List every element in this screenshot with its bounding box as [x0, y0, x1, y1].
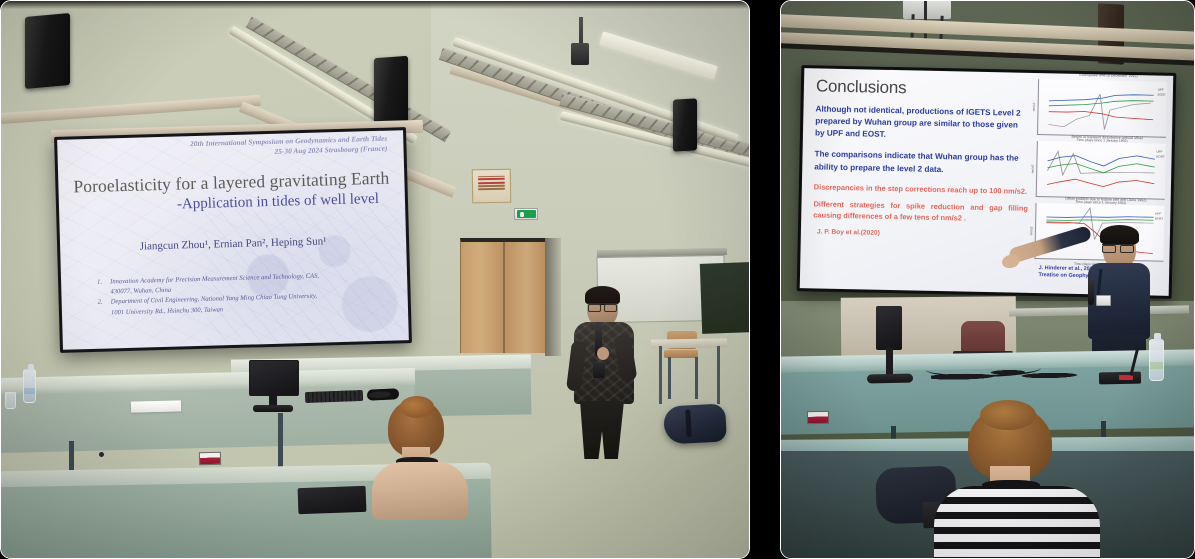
ceiling-shadow	[1, 1, 749, 9]
slide-paragraph-red: Discrepancies in the step corrections re…	[814, 182, 1029, 197]
slide-heading: Conclusions	[816, 76, 1031, 100]
desk-warning-label	[199, 452, 221, 466]
presenter-legs	[580, 401, 624, 459]
chart-ylabel: nm/s2	[1032, 102, 1036, 111]
slide-citation-red: J. P. Boy et al.(2020)	[813, 228, 1028, 239]
affiliation-number: 2.	[98, 298, 111, 309]
slide-authors: Jiangcun Zhou¹, Ernian Pan², Heping Sun¹	[70, 233, 396, 254]
legend-entry: EOST	[1158, 92, 1166, 97]
cables	[931, 364, 1091, 385]
slide-conference-banner: 20th International Symposium on Geodynam…	[67, 134, 393, 162]
chart-legend: UPF EOST	[1156, 150, 1164, 159]
chart-title: Earthquake time (6 December 1992)	[1050, 72, 1168, 78]
monitor-base	[253, 405, 293, 412]
navy-backpack	[663, 403, 727, 444]
exit-running-man-glyph	[517, 210, 536, 218]
presenter-hand	[597, 347, 609, 360]
door-shadow	[545, 238, 561, 356]
side-table	[651, 338, 727, 348]
handheld-microphone	[1088, 277, 1094, 305]
monitor-base	[867, 374, 913, 384]
door-seam	[503, 242, 505, 353]
poster-line	[478, 175, 505, 177]
glasses-icon	[1102, 244, 1134, 250]
audience-hair-bun	[980, 400, 1036, 430]
chair-leg	[695, 357, 698, 399]
wooden-double-door	[460, 238, 545, 353]
title-slide: 20th International Symposium on Geodynam…	[57, 130, 409, 350]
paper-sheet	[131, 400, 181, 412]
poster-line	[478, 188, 505, 190]
chart-panel-2: Before or transient disturbance without …	[1036, 141, 1166, 200]
right-photo-panel: Conclusions Although not identical, prod…	[780, 0, 1195, 559]
side-table-leg	[659, 346, 662, 404]
presenter-person	[567, 289, 641, 457]
emergency-exit-sign-icon	[514, 208, 538, 220]
laptop	[298, 486, 367, 514]
projection-screen: 20th International Symposium on Geodynam…	[54, 127, 412, 353]
left-photo-panel: 20th International Symposium on Geodynam…	[0, 0, 750, 559]
poster-line	[478, 182, 505, 184]
computer-monitor	[876, 306, 902, 350]
drinking-glass	[5, 392, 16, 409]
chart-plot-area	[1038, 79, 1167, 137]
side-table-leg	[717, 346, 720, 404]
water-bottle	[1149, 339, 1164, 381]
legend-entry: EOST	[1156, 154, 1164, 159]
wall-speaker	[673, 98, 697, 151]
presenter-pointing-scene: Conclusions Although not identical, prod…	[781, 1, 1194, 558]
slide-paragraph-red: Different strategies for spike reduction…	[813, 200, 1028, 226]
affiliation-number: 1.	[97, 277, 110, 288]
audience-torso-striped	[934, 486, 1100, 559]
keyboard	[305, 390, 363, 403]
poster-line	[478, 178, 505, 180]
wall-poster	[472, 169, 512, 204]
chair-leg	[668, 357, 671, 399]
wall-speaker	[374, 56, 408, 126]
desk-knob	[99, 452, 104, 457]
conference-badge	[1096, 295, 1111, 306]
audience-person	[358, 399, 478, 519]
desk-warning-label	[807, 411, 829, 424]
audience-hair-bun	[400, 396, 434, 418]
slide-paragraph-blue: Although not identical, productions of I…	[815, 103, 1030, 144]
chart-panel-1: Earthquake time (6 December 1992) nm/s2 …	[1037, 79, 1167, 138]
water-bottle	[23, 369, 36, 403]
slide-affiliations: 1.Innovation Academy for Precision Measu…	[71, 269, 398, 319]
lecture-hall-scene: 20th International Symposium on Geodynam…	[1, 1, 749, 558]
poster-line	[478, 185, 505, 187]
chart-ylabel: nm/s2	[1031, 164, 1035, 173]
chalkboard	[700, 262, 750, 334]
chart-ylabel: nm/s2	[1030, 226, 1034, 235]
audience-person	[916, 406, 1116, 559]
monitor-stand	[886, 347, 893, 377]
wall-speaker	[25, 13, 70, 89]
computer-monitor	[249, 360, 299, 396]
presenter-remote-clicker	[593, 363, 605, 378]
chart-legend: UPF EOST	[1158, 88, 1166, 97]
presenter-hair	[1100, 225, 1139, 245]
slide-paragraph-blue: The comparisons indicate that Wuhan grou…	[814, 149, 1029, 178]
photo-collage: 20th International Symposium on Geodynam…	[0, 0, 1195, 559]
audience-torso	[372, 462, 468, 520]
chart-plot-area	[1037, 141, 1166, 199]
glasses-icon	[588, 303, 617, 309]
ceiling-hanger-fixture	[571, 43, 589, 65]
